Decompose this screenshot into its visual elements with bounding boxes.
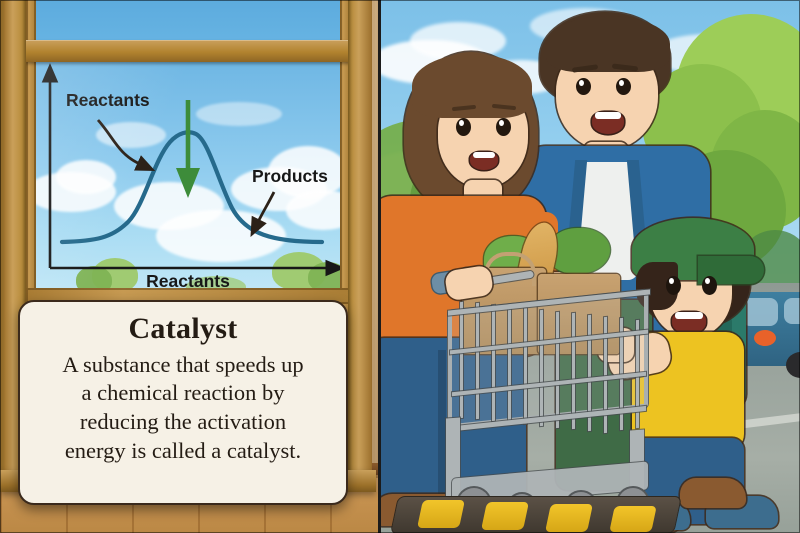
father-hair-fringe [546,16,670,72]
card-body-line: a chemical reaction by [62,379,303,408]
cart-wire [540,310,543,426]
parked-car-window [784,298,800,324]
screenshot-canvas: Reactants Products Reactants Catalyst A … [0,0,800,533]
window-pane-transom [36,0,340,40]
cart-wire [460,302,463,418]
card-body-line: reducing the activation [62,408,303,437]
mother-eye-highlight [459,120,464,126]
cart-wire [476,303,479,419]
parked-car-window [742,298,778,326]
boy-eye-highlight [669,278,674,284]
mother-jeans-seam [438,350,446,510]
parked-car-taillight [754,330,776,346]
speed-bump-stripe [481,502,529,530]
boy-teeth [675,312,703,319]
window-casing-right [348,0,372,490]
catalyst-definition-card: Catalyst A substance that speeds up a ch… [18,300,348,505]
activation-energy-reduction-arrow [176,100,200,198]
card-body-line: A substance that speeds up [62,351,303,380]
boy-eye-highlight [705,278,710,284]
card-body: A substance that speeds up a chemical re… [62,351,303,466]
right-panel-family-illustration [380,0,800,533]
father-eye-highlight [579,80,584,86]
cart-wire [524,308,527,424]
cart-wire [572,313,575,429]
speed-bump-stripe [545,504,593,532]
cart-wire [492,305,495,421]
left-panel-chemistry-diagram: Reactants Products Reactants Catalyst A … [0,0,380,533]
card-body-line: energy is called a catalyst. [62,437,303,466]
panel-divider [378,0,381,533]
reactants-label: Reactants [66,90,150,110]
cart-wire [556,312,559,428]
mother-teeth [473,152,495,158]
activation-energy-chart: Reactants Products Reactants [36,62,340,288]
boy-shoe-brown [680,478,746,508]
products-label: Products [252,166,328,186]
speed-bump-stripe [609,506,657,532]
window-mullion [26,40,350,62]
mother-eye-highlight [499,120,504,126]
father-teeth [595,112,621,119]
father-eye-highlight [619,80,624,86]
x-axis-label: Reactants [146,271,230,288]
card-title: Catalyst [128,312,237,347]
cart-wire [508,307,511,423]
products-annotation-arrow [258,192,274,222]
reactants-annotation-arrow [98,120,140,164]
speed-bump-stripe [417,500,465,528]
